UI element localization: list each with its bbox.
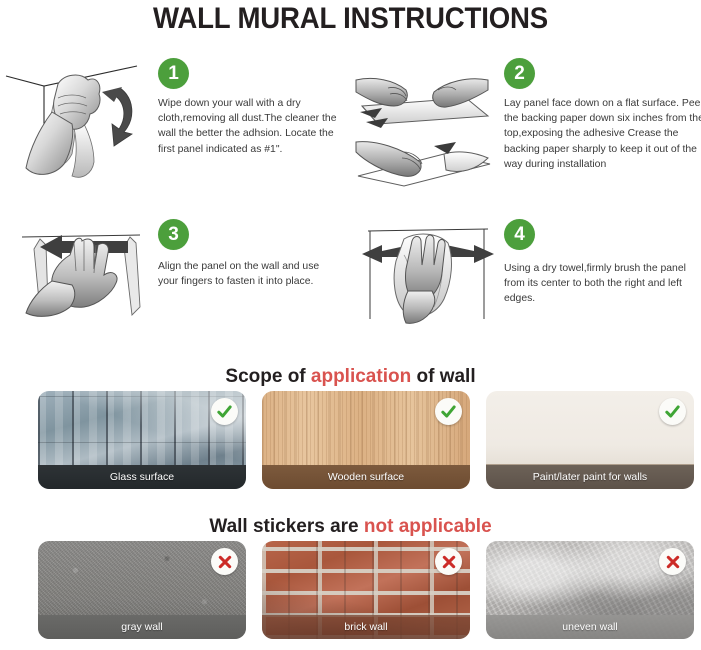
- cross-icon: [435, 548, 462, 575]
- step-1-text: Wipe down your wall with a dry cloth,rem…: [158, 96, 338, 157]
- not-applicable-heading-highlight: not applicable: [364, 516, 492, 537]
- step-1-illustration: [2, 54, 152, 192]
- check-icon: [659, 398, 686, 425]
- surface-caption: gray wall: [38, 615, 246, 639]
- surface-caption: Wooden surface: [262, 465, 470, 489]
- surface-card-brick-wall[interactable]: brick wall: [262, 541, 470, 639]
- steps-section: 1 Wipe down your wall with a dry cloth,r…: [0, 52, 701, 332]
- step-3-text: Align the panel on the wall and use your…: [158, 259, 336, 289]
- step-4: 4 Using a dry towel,firmly brush the pan…: [348, 207, 701, 327]
- applicable-heading: Scope of application of wall: [0, 366, 701, 388]
- applicable-heading-before: Scope of: [225, 366, 311, 387]
- surface-caption: uneven wall: [486, 615, 694, 639]
- step-1: 1 Wipe down your wall with a dry cloth,r…: [0, 52, 340, 192]
- applicable-surfaces-row: Glass surface Wooden surface Paint/later…: [0, 391, 701, 496]
- step-4-text: Using a dry towel,firmly brush the panel…: [504, 261, 699, 307]
- surface-card-uneven-wall[interactable]: uneven wall: [486, 541, 694, 639]
- not-applicable-surfaces-row: gray wall brick wall uneven wall: [0, 541, 701, 646]
- surface-caption: brick wall: [262, 615, 470, 639]
- surface-card-glass[interactable]: Glass surface: [38, 391, 246, 489]
- step-2-illustration: [348, 54, 496, 192]
- not-applicable-heading-before: Wall stickers are: [209, 516, 364, 537]
- surface-card-paint[interactable]: Paint/later paint for walls: [486, 391, 694, 489]
- page-title: WALL MURAL INSTRUCTIONS: [28, 2, 673, 36]
- step-2: 2 Lay panel face down on a flat surface.…: [348, 52, 701, 192]
- surface-card-wood[interactable]: Wooden surface: [262, 391, 470, 489]
- step-2-badge: 2: [504, 58, 535, 89]
- step-3-badge: 3: [158, 219, 189, 250]
- surface-card-gray-wall[interactable]: gray wall: [38, 541, 246, 639]
- check-icon: [211, 398, 238, 425]
- surface-caption: Glass surface: [38, 465, 246, 489]
- cross-icon: [211, 548, 238, 575]
- step-3-illustration: [4, 215, 154, 323]
- cross-icon: [659, 548, 686, 575]
- applicable-heading-after: of wall: [411, 366, 475, 387]
- check-icon: [435, 398, 462, 425]
- instruction-sheet: WALL MURAL INSTRUCTIONS: [0, 0, 701, 650]
- step-2-text: Lay panel face down on a flat surface. P…: [504, 96, 701, 172]
- step-1-badge: 1: [158, 58, 189, 89]
- applicable-heading-highlight: application: [311, 366, 411, 387]
- surface-caption: Paint/later paint for walls: [486, 465, 694, 489]
- step-4-illustration: [348, 211, 496, 326]
- step-3: 3 Align the panel on the wall and use yo…: [0, 207, 340, 327]
- step-4-badge: 4: [504, 219, 535, 250]
- not-applicable-heading: Wall stickers are not applicable: [0, 516, 701, 538]
